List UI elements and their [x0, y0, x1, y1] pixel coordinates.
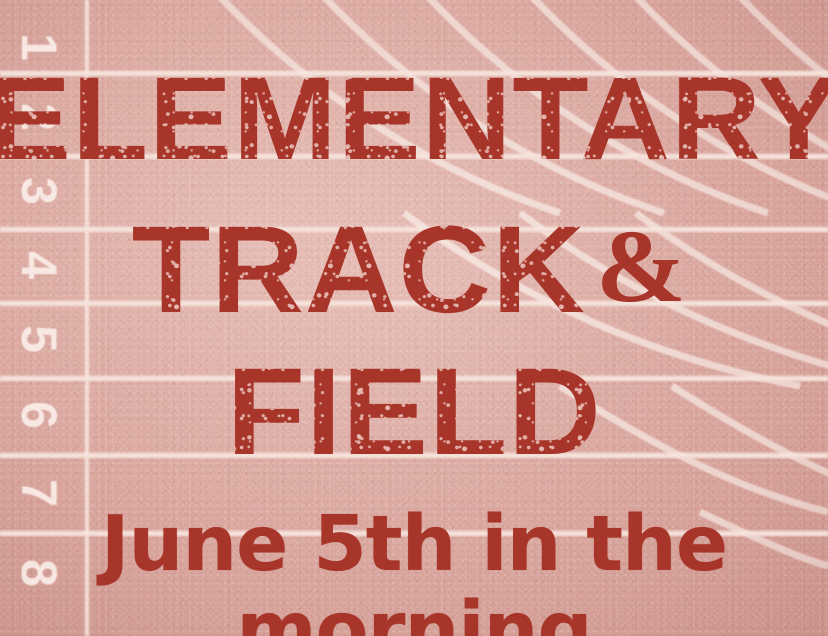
track-field-poster: 1 2 3 4 5 6 7 8 ELEMENTARY TRACK&FIELD J…: [0, 0, 828, 636]
headline-elementary: ELEMENTARY: [0, 66, 828, 172]
subtitle-line-2: morning: [101, 588, 727, 636]
poster-copy: ELEMENTARY TRACK&FIELD June 5th in the m…: [0, 0, 828, 636]
headline-track-and-field: TRACK&FIELD: [0, 190, 828, 474]
headline-ampersand: &: [586, 209, 697, 324]
subtitle: June 5th in the morning: [101, 502, 727, 636]
headline-word-field: FIELD: [226, 357, 601, 469]
subtitle-line-1: June 5th in the: [101, 502, 727, 588]
headline-word-track: TRACK: [132, 215, 586, 327]
